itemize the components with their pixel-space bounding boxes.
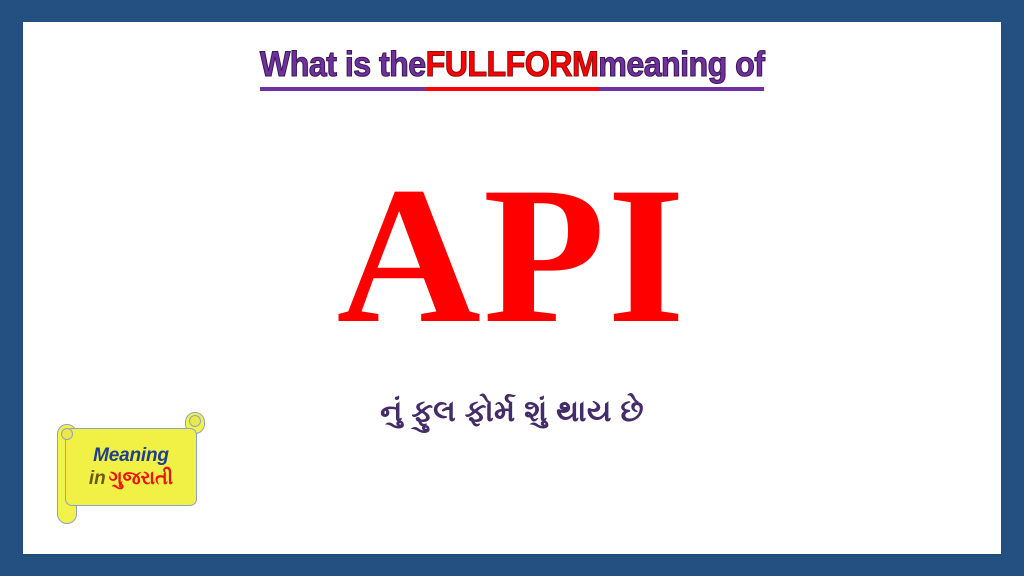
logo-line-meaning: Meaning xyxy=(93,446,169,467)
scroll-roll-right-eye-icon xyxy=(189,415,201,427)
acronym-text: API xyxy=(337,158,687,354)
subline-gujarati-text: નું ફુલ ફોર્મ શું થાય છે xyxy=(380,392,644,431)
page-title: What is the FULLFORM meaning of xyxy=(260,44,765,96)
logo-word-in: in xyxy=(89,468,109,489)
acronym-container: API xyxy=(23,158,1001,354)
logo-line-in-gujarati: inગુજરાતી xyxy=(89,468,173,490)
headline-highlight-fullform: FULLFORM xyxy=(425,44,598,91)
headline-container: What is the FULLFORM meaning of xyxy=(23,44,1001,96)
meaning-in-gujarati-logo: Meaning inગુજરાતી xyxy=(33,404,223,528)
poster-frame: What is the FULLFORM meaning of API નું … xyxy=(0,0,1024,576)
logo-word-gujarati: ગુજરાતી xyxy=(109,468,173,489)
headline-part-one: What is the xyxy=(260,44,426,91)
logo-text-group: Meaning inગુજરાતી xyxy=(65,430,197,506)
headline-part-two: meaning of xyxy=(598,44,764,91)
poster-canvas: What is the FULLFORM meaning of API નું … xyxy=(23,22,1001,554)
